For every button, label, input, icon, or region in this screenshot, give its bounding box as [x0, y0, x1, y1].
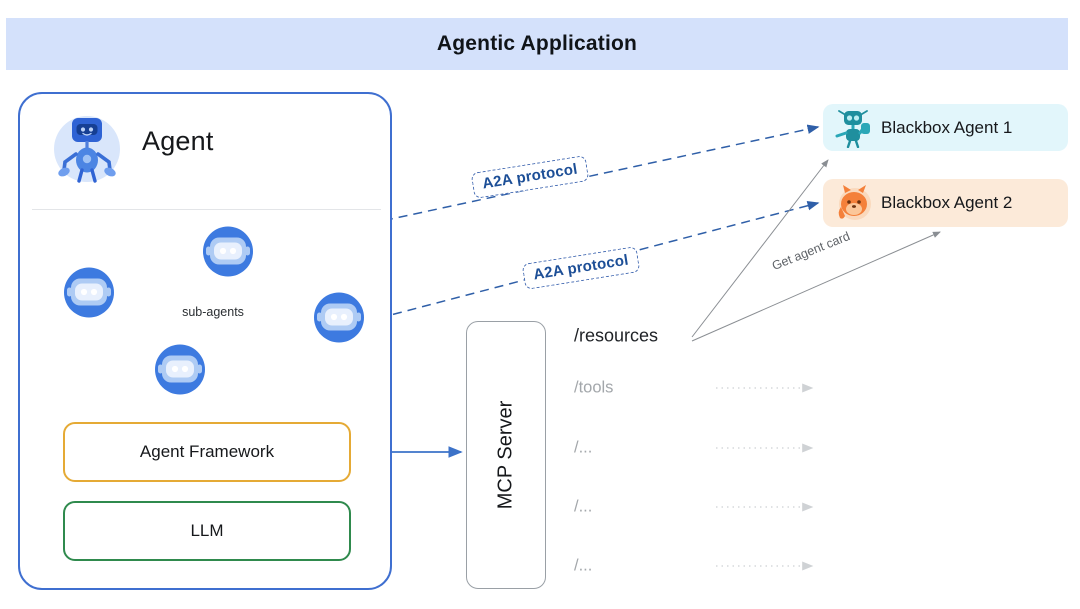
sub-agent-robot-icon[interactable] — [63, 267, 115, 324]
endpoint-tools[interactable]: /tools — [574, 379, 613, 398]
blackbox-agent-2-label: Blackbox Agent 2 — [881, 193, 1012, 213]
sub-agent-robot-icon[interactable] — [313, 292, 365, 349]
agent-framework-box[interactable]: Agent Framework — [63, 422, 351, 482]
sub-agent-robot-icon[interactable] — [202, 226, 254, 283]
diagram-canvas: Agentic Application — [0, 0, 1080, 609]
agent-panel-divider — [32, 209, 381, 210]
endpoint-resources[interactable]: /resources — [574, 326, 658, 347]
mcp-server-label: MCP Server — [495, 401, 518, 510]
robot-avatar-icon — [48, 108, 126, 186]
endpoint-more-3[interactable]: /... — [574, 557, 592, 576]
endpoint-more-2[interactable]: /... — [574, 498, 592, 517]
agent-framework-label: Agent Framework — [140, 442, 274, 462]
blackbox-agent-2-card[interactable]: Blackbox Agent 2 — [823, 179, 1068, 227]
agent-panel-title: Agent — [142, 126, 214, 157]
mcp-server-box[interactable]: MCP Server — [466, 321, 546, 589]
llm-box[interactable]: LLM — [63, 501, 351, 561]
llm-label: LLM — [190, 521, 223, 541]
teal-robot-icon — [831, 108, 875, 148]
sub-agent-robot-icon[interactable] — [154, 344, 206, 401]
orange-fox-icon — [831, 183, 875, 223]
blackbox-agent-1-label: Blackbox Agent 1 — [881, 118, 1012, 138]
blackbox-agent-1-card[interactable]: Blackbox Agent 1 — [823, 104, 1068, 151]
endpoint-more-1[interactable]: /... — [574, 439, 592, 458]
subagents-label: sub-agents — [182, 305, 244, 319]
